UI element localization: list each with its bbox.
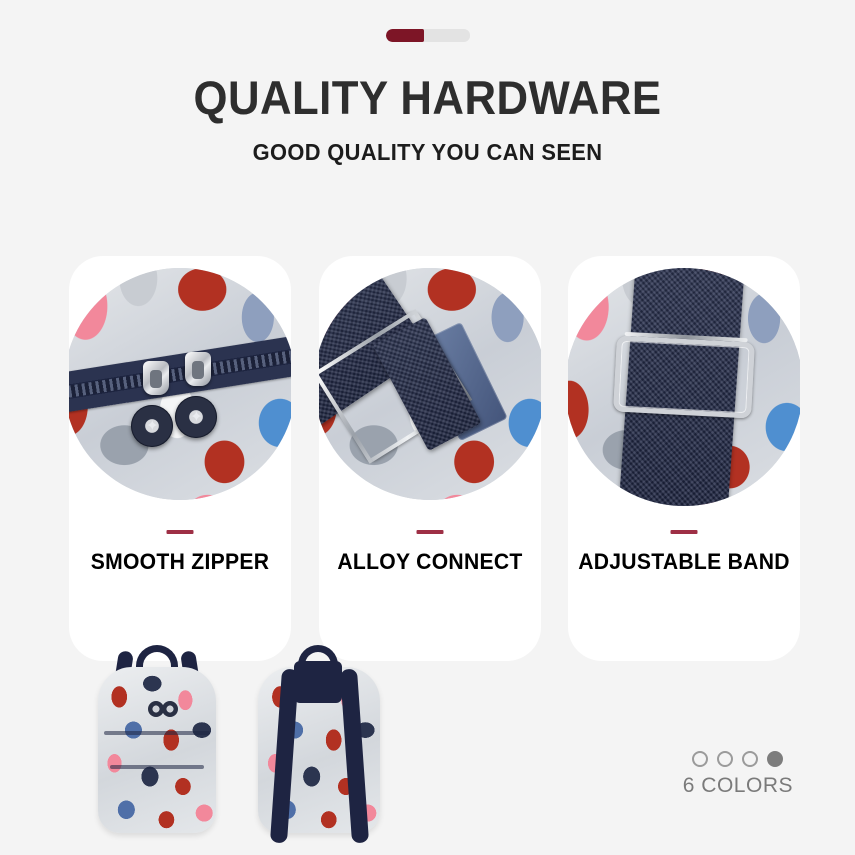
adjustable-band-photo [568,268,800,506]
star-icon: ✦ [146,418,159,433]
backpack-seam [110,765,204,769]
color-dot-list [683,751,793,767]
feature-label-alloy-connect: ALLOY CONNECT [337,549,522,575]
backpack-handle [136,645,178,667]
feature-card-list: ✦ ✦ SMOOTH ZIPPER ALLOY CONNECT [69,256,800,661]
color-options[interactable]: 6 COLORS [683,751,793,798]
page-subtitle: GOOD QUALITY YOU CAN SEEN [21,139,833,166]
feature-card-adjustable-band[interactable]: ADJUSTABLE BAND [568,256,800,661]
color-dot[interactable] [717,751,733,767]
caption-divider [671,530,698,534]
page-title: QUALITY HARDWARE [30,70,825,125]
zipper-pull-icon [143,361,169,395]
caption-divider [167,530,194,534]
progress-pill [386,29,470,42]
feature-label-smooth-zipper: SMOOTH ZIPPER [91,549,270,575]
backpack-zipper-pull [162,701,178,717]
backpack-back-view [250,645,390,841]
color-dot[interactable] [692,751,708,767]
progress-pill-track [424,29,469,42]
slider-buckle-icon [613,336,755,419]
caption-divider [416,530,443,534]
zipper-photo: ✦ ✦ [69,268,291,500]
zipper-disc-icon: ✦ [175,396,217,438]
zipper-pull-icon [185,352,211,386]
promo-page: QUALITY HARDWARE GOOD QUALITY YOU CAN SE… [0,0,855,855]
backpack-top-panel [294,661,342,703]
color-dot-selected[interactable] [767,751,783,767]
feature-card-smooth-zipper[interactable]: ✦ ✦ SMOOTH ZIPPER [69,256,291,661]
backpack-seam [104,731,210,735]
backpack-body [98,667,216,833]
product-photo-group [60,635,480,855]
feature-label-adjustable-band: ADJUSTABLE BAND [578,549,790,575]
progress-pill-fill [386,29,425,42]
color-dot[interactable] [742,751,758,767]
star-icon: ✦ [190,409,203,424]
feature-card-alloy-connect[interactable]: ALLOY CONNECT [319,256,541,661]
backpack-front-view [92,639,222,835]
colors-label: 6 COLORS [683,774,793,798]
alloy-connect-photo [319,268,541,500]
zipper-disc-icon: ✦ [131,405,173,447]
